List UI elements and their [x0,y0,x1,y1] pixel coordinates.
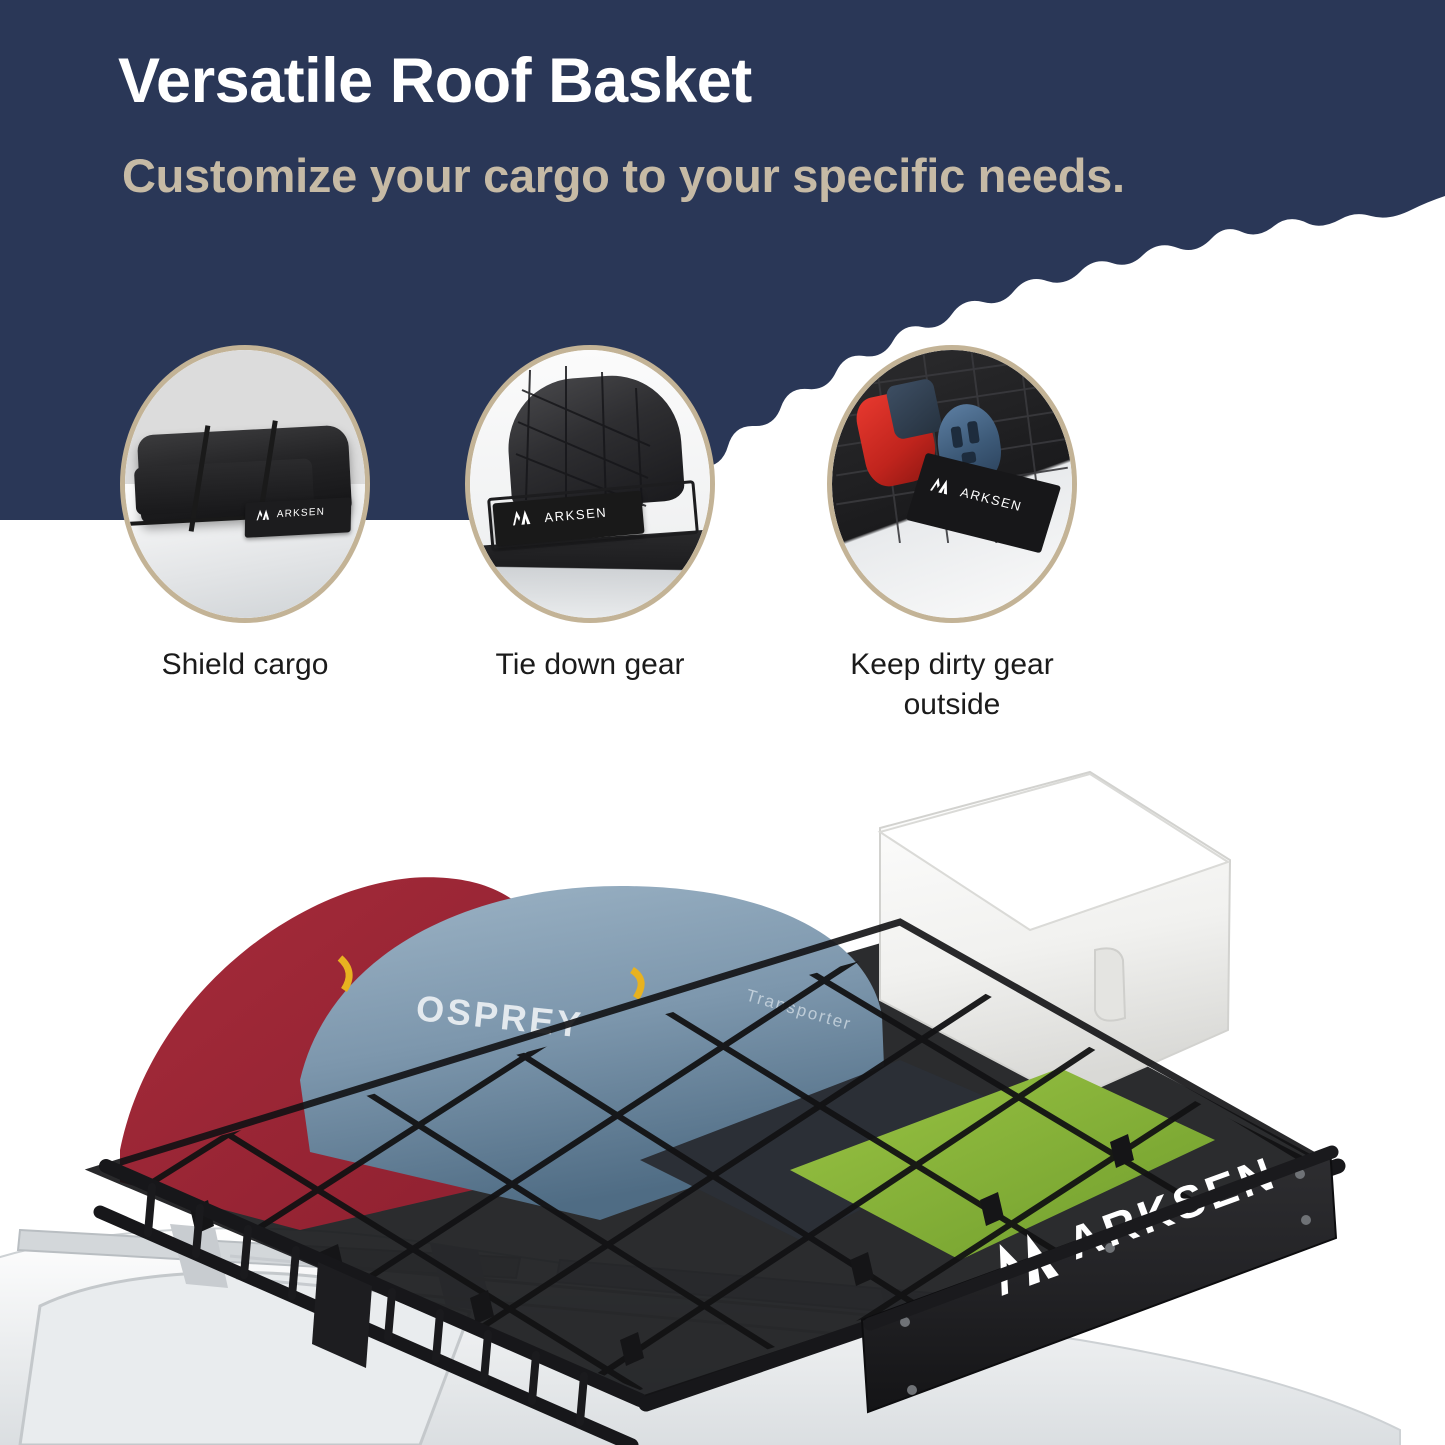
helmet-vent [967,420,980,444]
blue-gear-panel [885,378,943,440]
brand-name-3: ARKSEN [958,485,1024,515]
feature-caption-1: Shield cargo [120,645,370,685]
page-subtitle: Customize your cargo to your specific ne… [122,148,1257,203]
hero-product-image: OSPREY Transporter [0,700,1445,1445]
page-title: Versatile Roof Basket [118,48,1218,114]
feature-caption-2: Tie down gear [465,645,715,685]
feature-card-tie-down-gear[interactable]: ARKSEN Tie down gear [465,345,715,685]
brand-name-2: ARKSEN [544,505,608,525]
cooler-latch [1095,948,1125,1020]
feature-thumbnail-2: ARKSEN [465,345,715,623]
arksen-logo-icon [511,508,534,527]
arksen-logo-icon [256,508,272,521]
product-infographic: Versatile Roof Basket Customize your car… [0,0,1445,1445]
feature-thumbnail-3: ARKSEN [827,345,1077,623]
feature-card-shield-cargo[interactable]: ARKSEN Shield cargo [120,345,370,685]
feature-card-keep-dirty-gear-outside[interactable]: ARKSEN Keep dirty gear outside [827,345,1077,724]
feature-thumbnail-1: ARKSEN [120,345,370,623]
brand-plate-1: ARKSEN [245,497,351,537]
arksen-logo-icon [929,475,955,497]
helmet-vent [950,426,963,448]
brand-name-1: ARKSEN [277,506,325,520]
